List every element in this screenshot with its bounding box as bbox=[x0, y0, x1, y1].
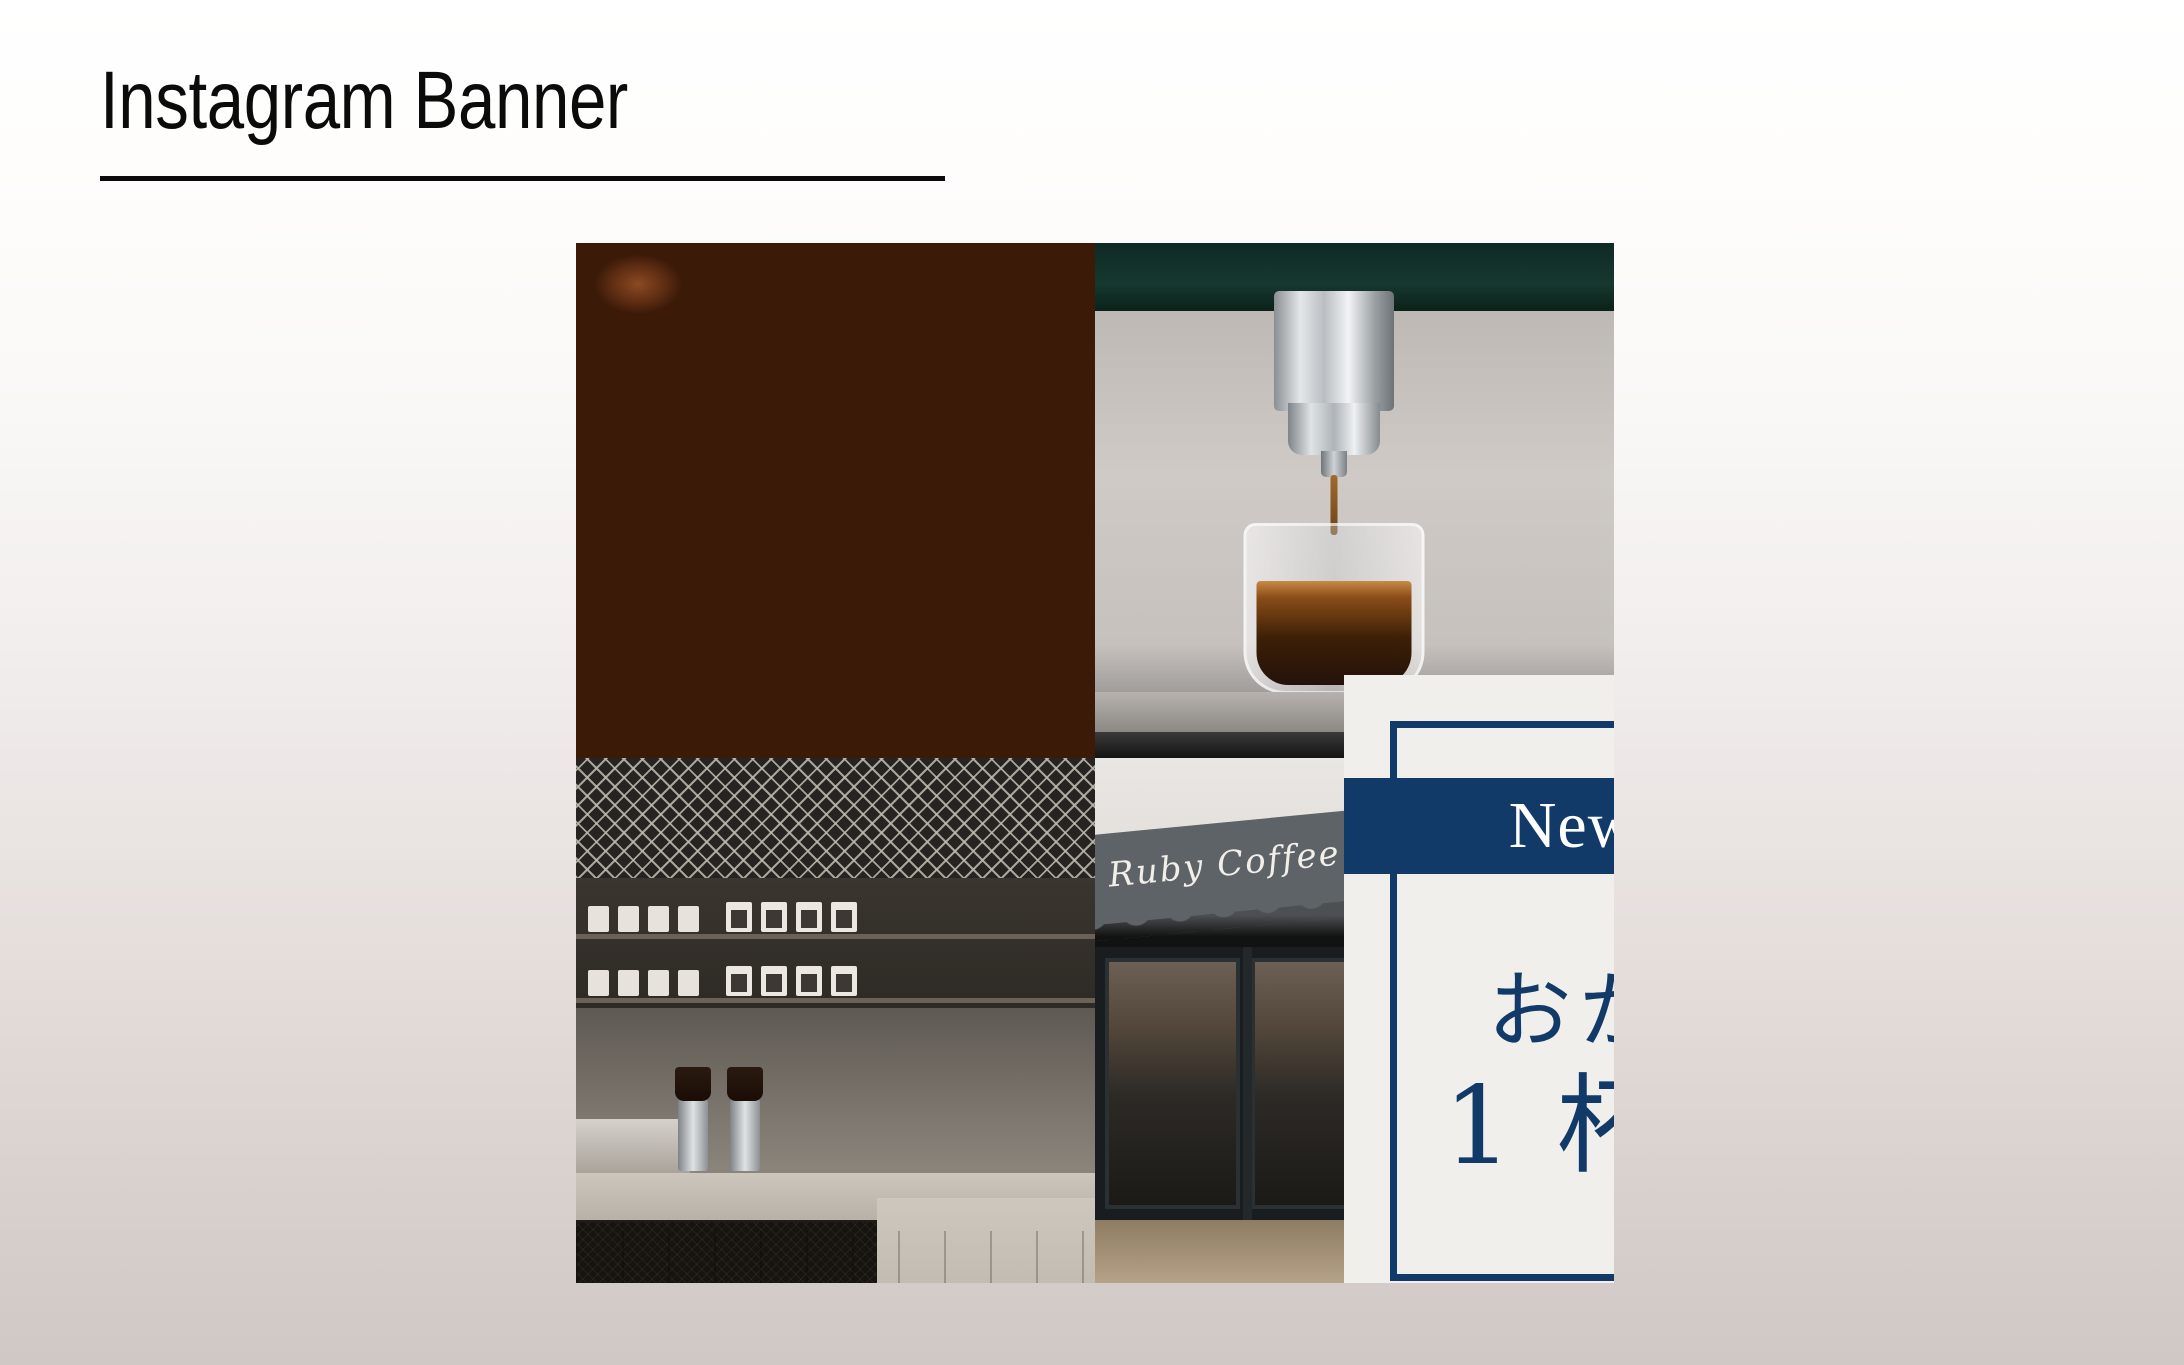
page-title: Instagram Banner bbox=[100, 58, 838, 144]
cup bbox=[618, 970, 639, 996]
awning-sign-text: Ruby Coffee bbox=[1107, 833, 1343, 895]
cup bbox=[588, 906, 609, 932]
new-open-label: New OPEN bbox=[1509, 793, 1614, 859]
coffee-grinder-right bbox=[730, 1099, 760, 1171]
shelf-board-upper bbox=[576, 934, 1095, 939]
jar bbox=[726, 966, 752, 996]
jar bbox=[726, 902, 752, 932]
cup bbox=[618, 906, 639, 932]
jar bbox=[796, 966, 822, 996]
shelf-board-lower bbox=[576, 998, 1095, 1003]
cup bbox=[678, 906, 699, 932]
page-title-wrap: Instagram Banner bbox=[100, 58, 1000, 144]
promo-headline-line1: おかわり bbox=[1487, 962, 1614, 1061]
page-title-underline bbox=[100, 176, 945, 181]
jar bbox=[796, 902, 822, 932]
jar bbox=[761, 902, 787, 932]
portafilter-spout bbox=[1321, 451, 1347, 477]
window-pane-1 bbox=[1105, 958, 1240, 1209]
coffee-grinder-left bbox=[678, 1099, 708, 1171]
jar-row-upper-right bbox=[726, 902, 857, 932]
wood-floor bbox=[576, 1231, 1095, 1283]
cup bbox=[648, 906, 669, 932]
jar-row-lower-right bbox=[726, 966, 857, 996]
lattice-ceiling-panel bbox=[576, 758, 1095, 878]
cup-row-upper-left bbox=[588, 906, 699, 932]
jar bbox=[831, 966, 857, 996]
portafilter bbox=[1288, 403, 1380, 455]
promo-headline-line2: 1 杯無料 bbox=[1443, 1065, 1614, 1189]
cup bbox=[588, 970, 609, 996]
cup-row-lower-left bbox=[588, 970, 699, 996]
photo-cafe-interior bbox=[576, 758, 1095, 1283]
mullion-1 bbox=[1243, 947, 1252, 1220]
promo-card-body: おかわり 1 杯無料 bbox=[1344, 885, 1614, 1267]
photo-roasted-coffee-beans bbox=[576, 243, 1095, 758]
new-open-ribbon: New OPEN bbox=[1344, 778, 1614, 874]
espresso-group-head bbox=[1274, 291, 1394, 411]
jar bbox=[831, 902, 857, 932]
espresso-glass-cup bbox=[1243, 523, 1424, 694]
jar bbox=[761, 966, 787, 996]
cup bbox=[678, 970, 699, 996]
bar-espresso-machine bbox=[576, 1119, 690, 1173]
instagram-banner[interactable]: Ruby Coffee Ru bbox=[576, 243, 1614, 1283]
promo-card: New OPEN おかわり 1 杯無料 bbox=[1344, 675, 1614, 1283]
espresso-liquid bbox=[1256, 581, 1411, 685]
shelf-wall bbox=[576, 878, 1095, 1008]
cup bbox=[648, 970, 669, 996]
